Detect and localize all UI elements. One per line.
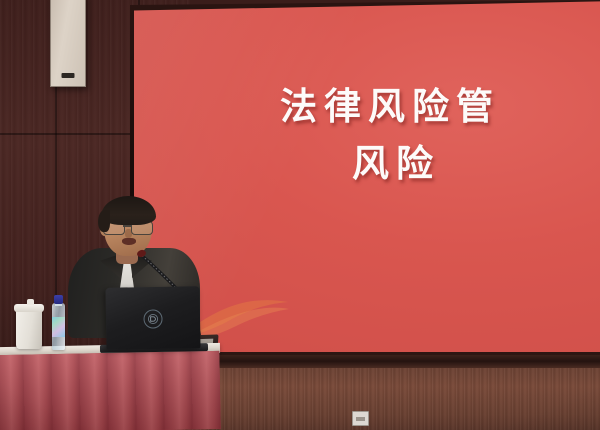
table-skirt	[0, 351, 221, 430]
presentation-photo: 法律风险管 风险	[0, 0, 600, 430]
tea-cup-knob	[27, 299, 34, 305]
water-bottle-cap	[54, 295, 63, 304]
speaker-vent	[62, 73, 75, 78]
wall-seam-horizontal	[0, 133, 138, 135]
water-bottle-label	[52, 317, 65, 337]
presenter-mouth	[122, 238, 136, 245]
dell-logo-mark	[147, 314, 158, 325]
laptop-brand-logo	[143, 310, 162, 329]
laptop-icon	[105, 286, 200, 350]
speaker-icon	[50, 0, 86, 87]
glasses-bridge	[123, 225, 131, 227]
water-bottle-icon	[52, 303, 65, 350]
tea-cup-icon	[16, 309, 42, 349]
power-outlet-icon	[352, 411, 369, 426]
tea-cup-lid	[14, 304, 44, 312]
slide-title-line-1: 法律风险管	[134, 78, 600, 135]
slide-title-block: 法律风险管 风险	[134, 78, 600, 193]
presenter-hair-side	[98, 210, 110, 232]
slide-title-line-2: 风险	[134, 135, 600, 192]
